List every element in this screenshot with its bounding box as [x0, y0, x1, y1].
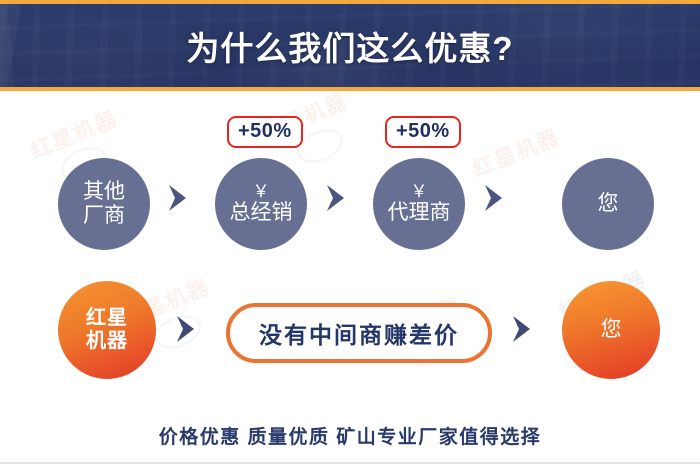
chevron-right-icon — [164, 180, 194, 216]
page-title: 为什么我们这么优惠? — [0, 0, 700, 91]
node-general-distributor[interactable]: ￥ 总经销 — [215, 158, 307, 250]
yen-icon: ￥ — [411, 183, 428, 200]
node-agent[interactable]: ￥ 代理商 — [373, 158, 465, 250]
chevron-right-icon — [508, 311, 538, 347]
promo-poster: 为什么我们这么优惠? 红星机器 红星机器 红星机器 红星机器 红星机器 红星机器… — [0, 0, 700, 464]
footer-tagline: 价格优惠 质量优质 矿山专业厂家值得选择 — [0, 414, 700, 456]
brand-label-line2: 机器 — [86, 330, 128, 353]
node-label-line1: 总经销 — [230, 201, 293, 225]
node-label-line2: 厂商 — [83, 204, 125, 228]
chevron-right-icon — [480, 180, 510, 216]
node-label-line1: 您 — [601, 318, 622, 342]
no-middleman-pill: 没有中间商赚差价 — [226, 303, 492, 363]
node-hongxing-brand[interactable]: 红星 机器 — [58, 281, 156, 379]
node-you-gray[interactable]: 您 — [562, 158, 654, 250]
node-label-line1: 其他 — [83, 180, 125, 204]
flow-row-direct: 红星 机器 没有中间商赚差价 您 — [0, 275, 700, 385]
node-label-line1: 您 — [598, 192, 619, 216]
badge-markup-agent: +50% — [385, 116, 461, 148]
badge-markup-distributor: +50% — [227, 116, 303, 148]
flow-row-middlemen: 其他 厂商 ￥ 总经销 ￥ 代理商 您 — [0, 150, 700, 258]
yen-icon: ￥ — [253, 183, 270, 200]
chevron-right-icon — [172, 311, 202, 347]
node-you-orange[interactable]: 您 — [562, 281, 660, 379]
node-other-manufacturer[interactable]: 其他 厂商 — [58, 158, 150, 250]
brand-label-line1: 红星 — [86, 307, 128, 330]
chevron-right-icon — [322, 180, 352, 216]
node-label-line1: 代理商 — [388, 201, 451, 225]
